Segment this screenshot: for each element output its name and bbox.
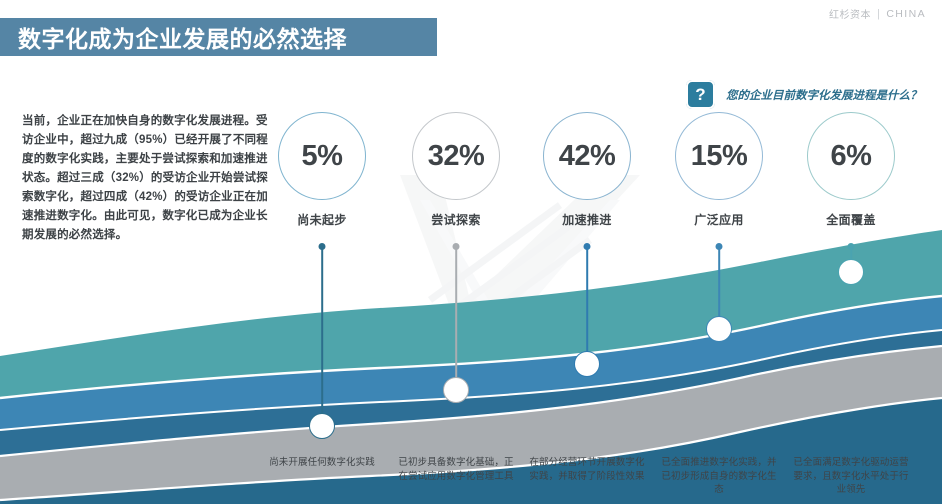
stage-description-2: 已初步具备数字化基础，正在尝试应用数字化管理工具 xyxy=(397,456,515,483)
stage-description-4: 已全面推进数字化实践，并已初步形成自身的数字化生态 xyxy=(660,456,778,497)
wave-marker-5 xyxy=(838,259,864,285)
wave-marker-4 xyxy=(706,316,732,342)
wave-marker-3 xyxy=(574,351,600,377)
stage-description-1: 尚未开展任何数字化实践 xyxy=(263,456,381,470)
connector-1 xyxy=(302,246,342,426)
stage-description-5: 已全面满足数字化驱动运营要求，且数字化水平处于行业领先 xyxy=(792,456,910,497)
connector-3 xyxy=(567,246,607,364)
connector-stem-3 xyxy=(586,246,588,364)
stage-descriptions-row: 尚未开展任何数字化实践 已初步具备数字化基础，正在尝试应用数字化管理工具 在部分… xyxy=(0,456,942,504)
connector-stem-1 xyxy=(321,246,323,426)
wave-marker-1 xyxy=(309,413,335,439)
infographic-slide: 红杉资本 | CHINA 数字化成为企业发展的必然选择 当前，企业正在加快自身的… xyxy=(0,0,942,504)
connector-2 xyxy=(436,246,476,390)
wave-marker-2 xyxy=(443,377,469,403)
stage-description-3: 在部分经营环节开展数字化实践，并取得了阶段性效果 xyxy=(528,456,646,483)
connector-layer xyxy=(0,0,942,504)
connector-stem-2 xyxy=(455,246,457,390)
